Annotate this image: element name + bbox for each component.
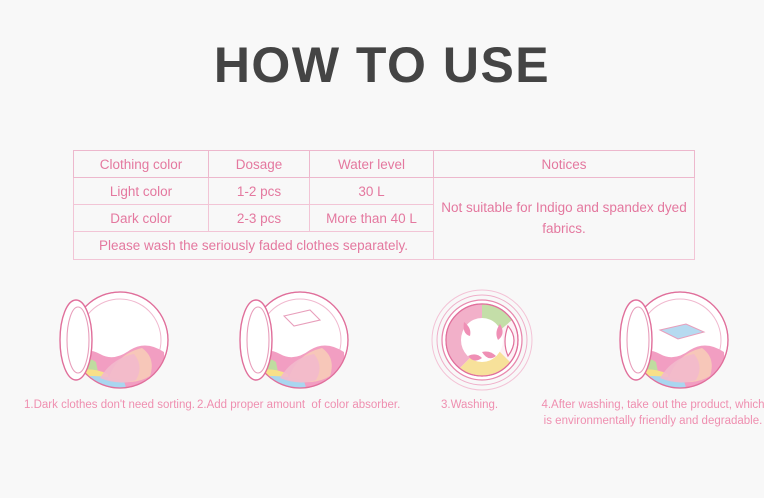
page-title: HOW TO USE	[0, 38, 764, 93]
cell-footer-note: Please wash the seriously faded clothes …	[74, 232, 434, 260]
table-header-clothing-color: Clothing color	[74, 151, 209, 178]
step-4-illustration	[598, 282, 748, 407]
step-3-caption: 3.Washing.	[441, 398, 498, 414]
table-row: Light color 1-2 pcs 30 L Not suitable fo…	[74, 178, 695, 205]
step-2-caption: 2.Add proper amount of color absorber.	[197, 398, 400, 414]
cell-dark-water-level: More than 40 L	[310, 205, 434, 232]
washing-drum-with-used-absorber-sheet-icon	[598, 282, 748, 402]
cell-light-color: Light color	[74, 178, 209, 205]
cell-dark-color: Dark color	[74, 205, 209, 232]
washing-drum-adding-absorber-sheet-icon	[218, 282, 368, 402]
usage-table: Clothing color Dosage Water level Notice…	[73, 150, 695, 260]
how-to-use-page: HOW TO USE Clothing color Dosage Water l…	[0, 0, 764, 498]
washing-machine-front-spinning-icon	[420, 282, 550, 402]
table-header-water-level: Water level	[310, 151, 434, 178]
cell-light-dosage: 1-2 pcs	[209, 178, 310, 205]
washing-drum-with-clothes-icon	[38, 282, 188, 402]
step-3-illustration	[420, 282, 550, 407]
step-4-caption: 4.After washing, take out the product, w…	[541, 398, 764, 429]
cell-dark-dosage: 2-3 pcs	[209, 205, 310, 232]
cell-notices: Not suitable for Indigo and spandex dyed…	[434, 178, 695, 260]
table-header-row: Clothing color Dosage Water level Notice…	[74, 151, 695, 178]
table-header-notices: Notices	[434, 151, 695, 178]
cell-light-water-level: 30 L	[310, 178, 434, 205]
step-2-illustration	[218, 282, 368, 407]
table-header-dosage: Dosage	[209, 151, 310, 178]
step-1-caption: 1.Dark clothes don't need sorting.	[24, 398, 195, 414]
step-1-illustration	[38, 282, 188, 407]
